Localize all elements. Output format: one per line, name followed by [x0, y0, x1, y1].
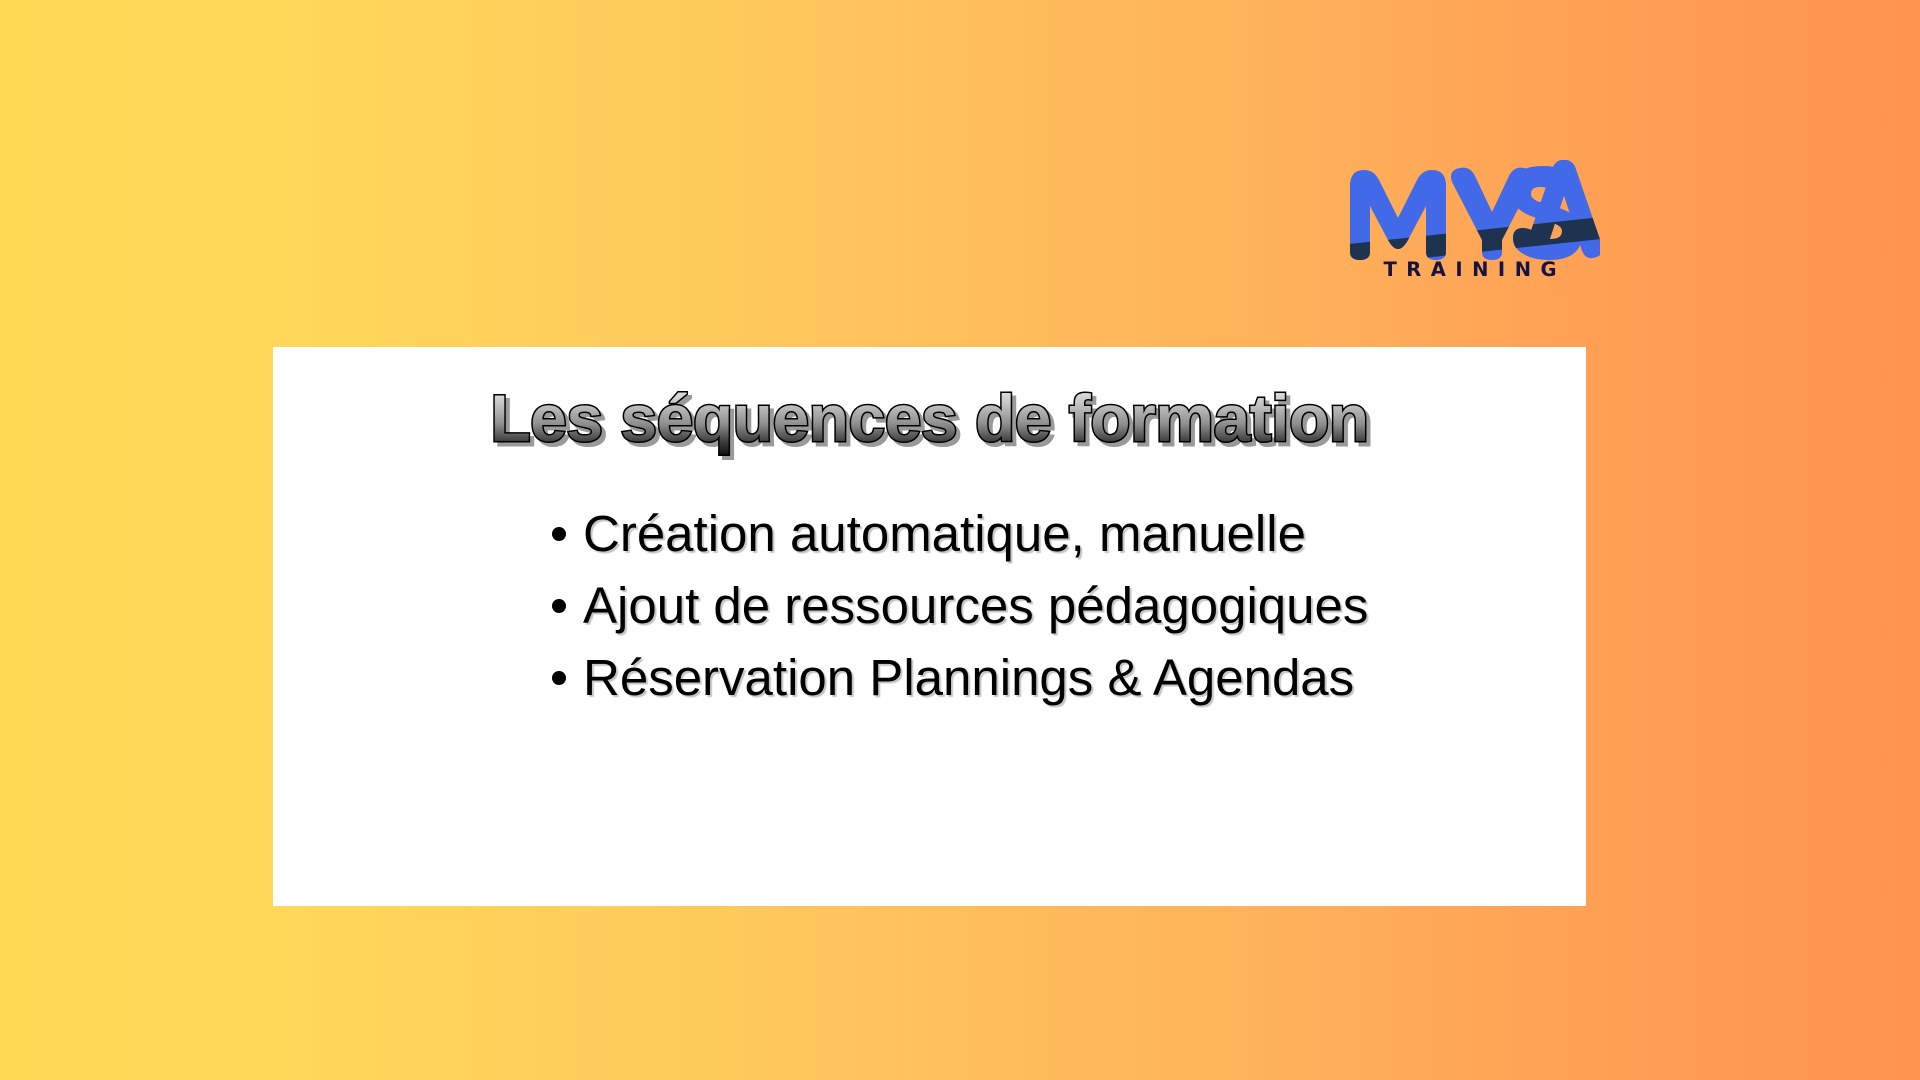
list-item: Réservation Plannings & Agendas: [552, 642, 1552, 714]
list-item: Création automatique, manuelle: [552, 498, 1552, 570]
presentation-slide: TRAINING Les séquences de formation: [0, 0, 1920, 1080]
page-title: Les séquences de formation Les séquences…: [273, 383, 1586, 463]
list-item: Ajout de ressources pédagogiques: [552, 570, 1552, 642]
logo-wordmark-training: TRAINING: [1344, 260, 1596, 280]
list-item-label: Réservation Plannings & Agendas: [583, 649, 1354, 706]
mysa-training-logo: TRAINING: [1340, 160, 1600, 295]
list-item-label: Ajout de ressources pédagogiques: [583, 577, 1368, 634]
slide-content-card: Les séquences de formation Les séquences…: [273, 347, 1586, 906]
list-item-label: Création automatique, manuelle: [583, 505, 1306, 562]
mysa-logo-icon: [1340, 160, 1600, 260]
page-title-text: Les séquences de formation: [490, 381, 1368, 455]
bullet-list: Création automatique, manuelle Ajout de …: [552, 498, 1552, 714]
